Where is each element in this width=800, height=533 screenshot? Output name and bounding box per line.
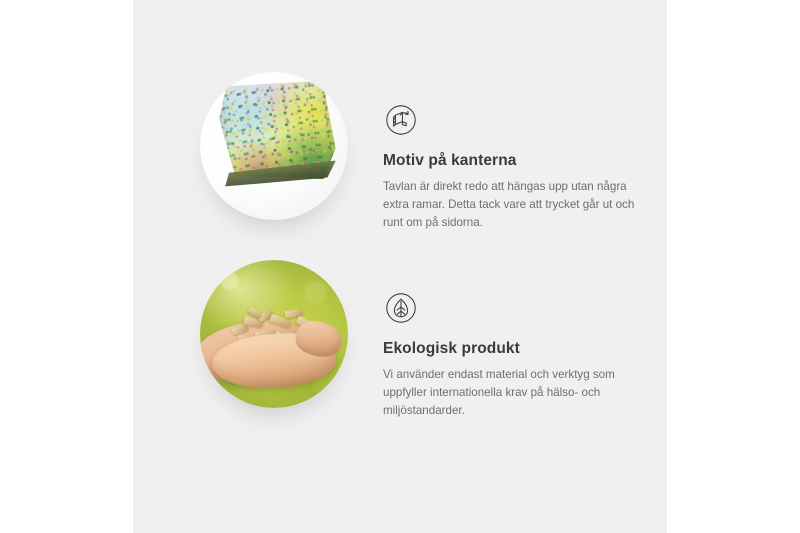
leaf-icon — [383, 290, 419, 326]
feature-text-block: Motiv på kanterna Tavlan är direkt redo … — [383, 102, 648, 232]
product-feature-banner: Motiv på kanterna Tavlan är direkt redo … — [0, 0, 800, 533]
feature-title: Motiv på kanterna — [383, 152, 648, 171]
circular-image-mask — [200, 260, 348, 408]
circular-image-mask — [200, 72, 348, 220]
feature-row-eco-product: Ekologisk produkt Vi använder endast mat… — [133, 248, 667, 453]
feature-image-wood-chips — [200, 260, 348, 408]
feature-description: Vi använder endast material och verktyg … — [383, 366, 648, 420]
feature-image-canvas-print — [200, 72, 348, 220]
feature-title: Ekologisk produkt — [383, 340, 648, 359]
canvas-wrapped-edges-icon — [383, 102, 419, 138]
canvas-artwork — [215, 73, 347, 205]
feature-text-block: Ekologisk produkt Vi använder endast mat… — [383, 290, 648, 420]
feature-row-canvas-edges: Motiv på kanterna Tavlan är direkt redo … — [133, 60, 667, 265]
feature-description: Tavlan är direkt redo att hängas upp uta… — [383, 178, 648, 232]
